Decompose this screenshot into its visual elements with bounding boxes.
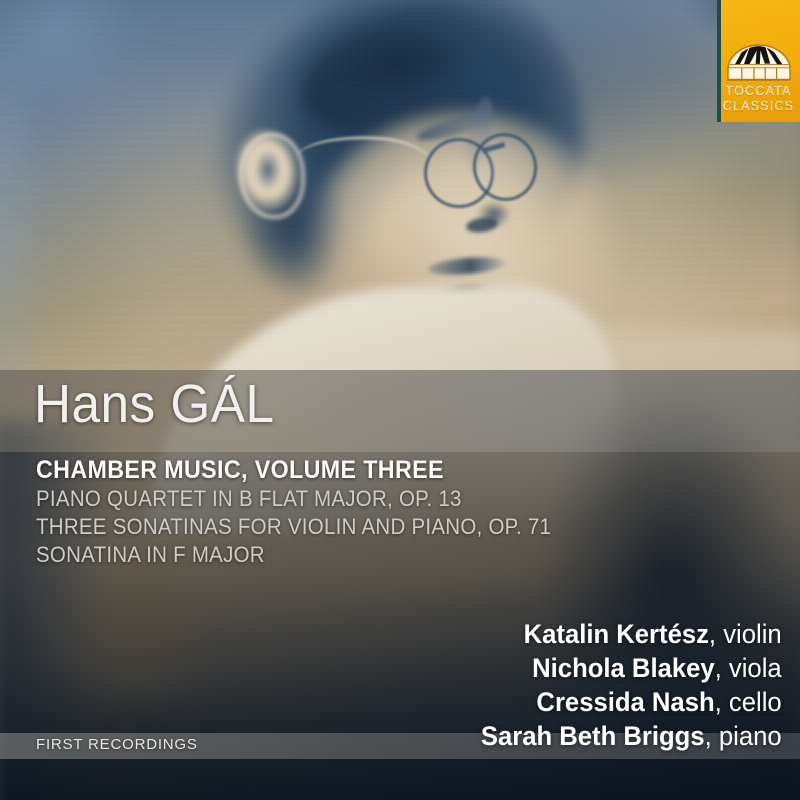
performer-name: Katalin Kertész [524,619,709,649]
composer-name: Hans GÁL [34,376,274,433]
performer-separator: , [709,619,723,649]
performer-instrument: viola [729,653,782,683]
work-list: PIANO QUARTET IN B FLAT MAJOR, OP. 13 TH… [36,485,551,569]
performer-list: Katalin Kertész, violin Nichola Blakey, … [481,617,782,753]
work-item: THREE SONATINAS FOR VIOLIN AND PIANO, OP… [36,513,551,541]
performer-separator: , [715,687,729,717]
logo-line-classics: CLASSICS [717,99,800,114]
work-item: SONATINA IN F MAJOR [36,541,551,569]
performer-credit: Nichola Blakey, viola [481,651,782,685]
performer-name: Sarah Beth Briggs [481,721,705,751]
toccata-classics-logo: TOCCATA CLASSICS [717,0,800,122]
logo-wordmark: TOCCATA CLASSICS [717,84,800,115]
performer-instrument: cello [729,687,782,717]
work-item: PIANO QUARTET IN B FLAT MAJOR, OP. 13 [36,485,551,513]
performer-separator: , [715,653,729,683]
piano-keyboard-arch-icon [726,44,792,82]
performer-credit: Cressida Nash, cello [481,685,782,719]
performer-instrument: piano [719,721,782,751]
performer-separator: , [705,721,719,751]
performer-credit: Katalin Kertész, violin [481,617,782,651]
album-title: CHAMBER MUSIC, VOLUME THREE [36,456,444,485]
logo-line-toccata: TOCCATA [717,84,800,99]
first-recordings-badge: FIRST RECORDINGS [36,736,198,753]
performer-name: Nichola Blakey [532,653,714,683]
performer-credit: Sarah Beth Briggs, piano [481,719,782,753]
performer-instrument: violin [724,619,782,649]
performer-name: Cressida Nash [537,687,715,717]
album-cover: Hans GÁL CHAMBER MUSIC, VOLUME THREE PIA… [0,0,800,800]
